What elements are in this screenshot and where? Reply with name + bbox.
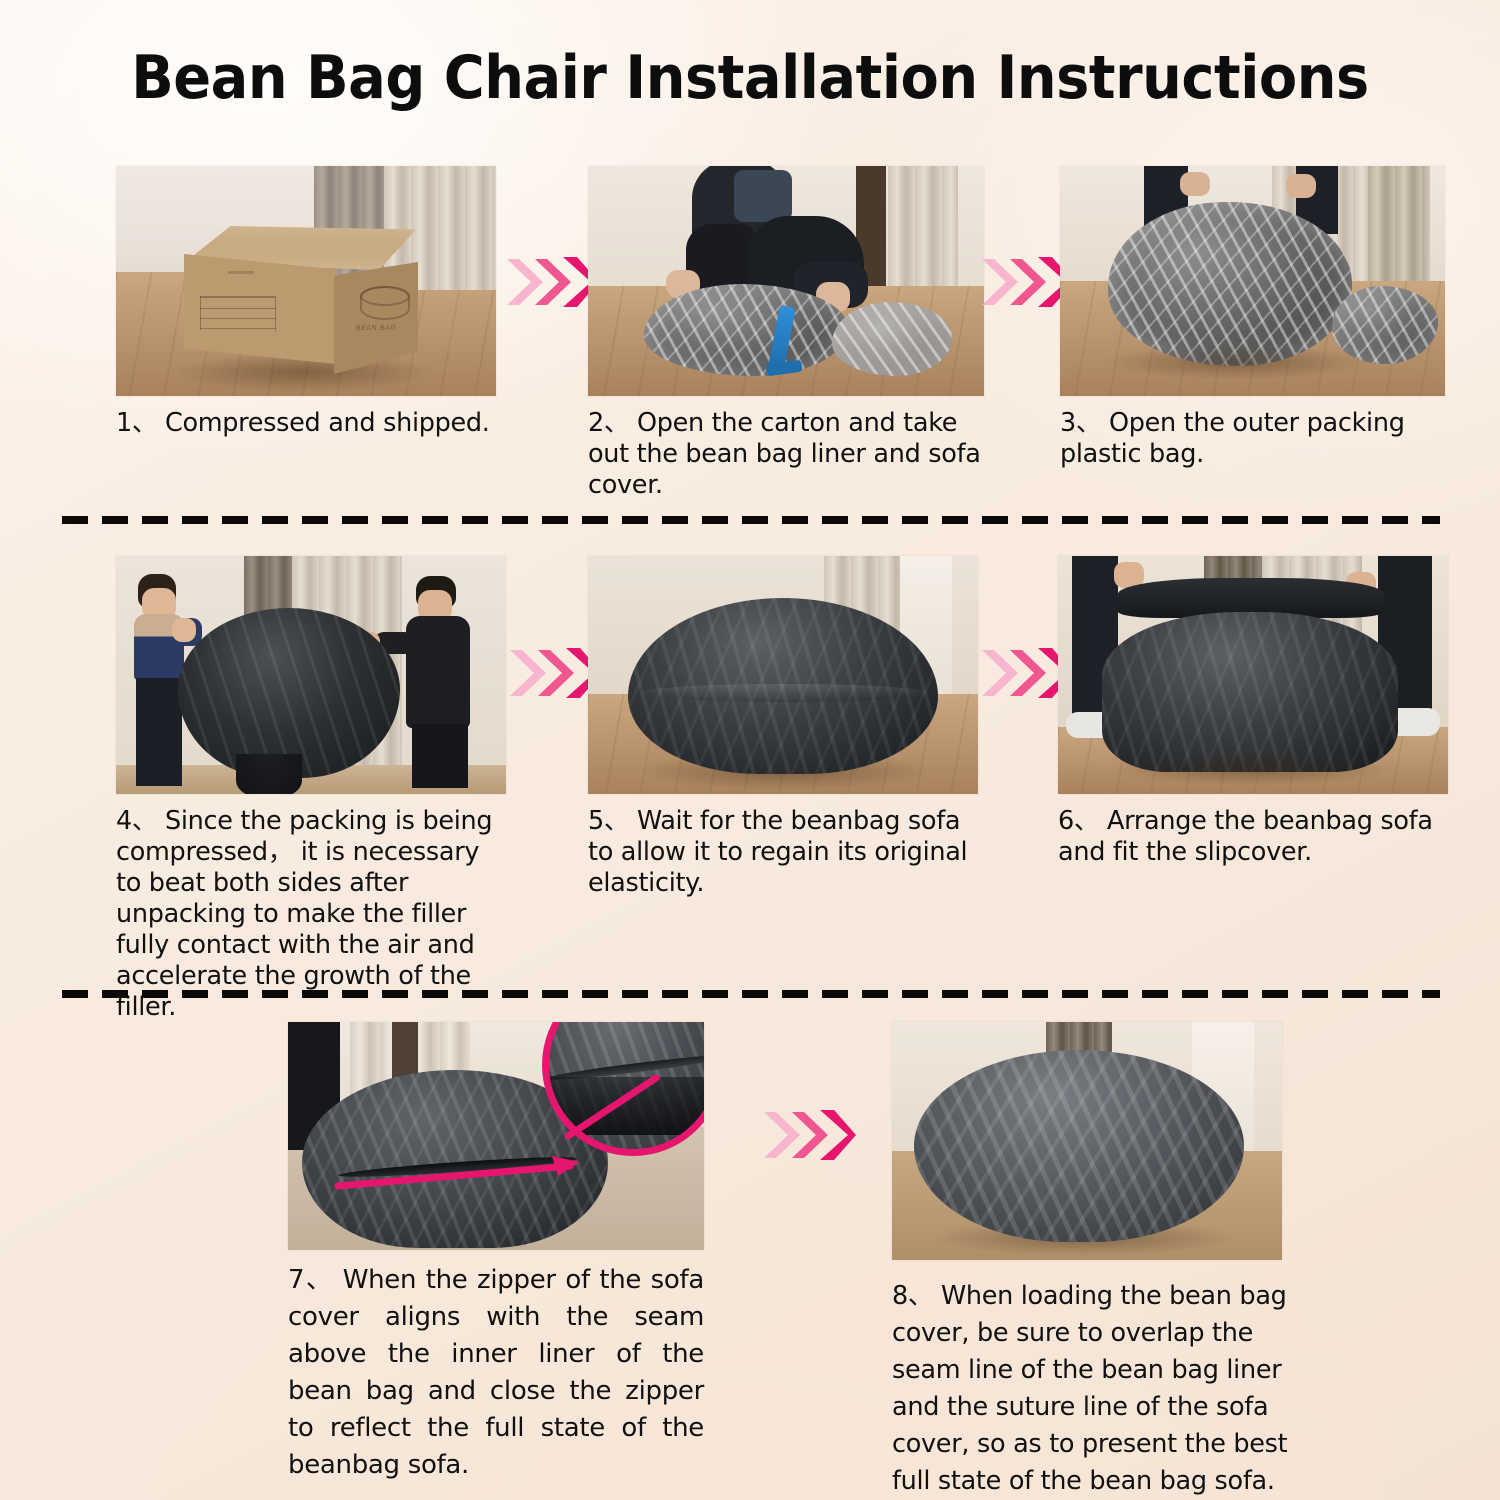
step-2-number: 2、 bbox=[588, 408, 629, 438]
step-4-number: 4、 bbox=[116, 806, 157, 836]
step-5-number: 5、 bbox=[588, 806, 629, 836]
step-7-text: When the zipper of the sofa cover aligns… bbox=[288, 1265, 704, 1480]
step-7-photo bbox=[288, 1022, 704, 1250]
step-5: 5、 Wait for the beanbag sofa to allow it… bbox=[588, 556, 978, 899]
step-5-text: Wait for the beanbag sofa to allow it to… bbox=[588, 806, 967, 898]
step-8-text: When loading the bean bag cover, be sure… bbox=[892, 1281, 1287, 1496]
step-3-photo bbox=[1060, 166, 1445, 396]
dashed-divider-1 bbox=[62, 516, 1440, 524]
step-8-number: 8、 bbox=[892, 1281, 933, 1311]
step-8: 8、 When loading the bean bag cover, be s… bbox=[892, 1022, 1308, 1500]
step-6-caption: 6、 Arrange the beanbag sofa and fit the … bbox=[1058, 806, 1448, 868]
step-4-caption: 4、 Since the packing is being compressed… bbox=[116, 806, 506, 1023]
step-7-caption: 7、 When the zipper of the sofa cover ali… bbox=[288, 1262, 704, 1484]
step-6: 6、 Arrange the beanbag sofa and fit the … bbox=[1058, 556, 1448, 868]
step-6-number: 6、 bbox=[1058, 806, 1099, 836]
arrow-step7-to-step8 bbox=[762, 1098, 858, 1172]
step-3-text: Open the outer packing plastic bag. bbox=[1060, 408, 1405, 469]
step-1-photo: BEAN BAG bbox=[116, 166, 496, 396]
step-7-number: 7、 bbox=[288, 1265, 333, 1295]
step-4-photo bbox=[116, 556, 506, 794]
step-4-text: Since the packing is being compressed， i… bbox=[116, 806, 492, 1022]
step-1-text: Compressed and shipped. bbox=[165, 408, 490, 438]
triple-chevron-right-icon bbox=[505, 245, 601, 319]
step-2-photo bbox=[588, 166, 984, 396]
step-4: 4、 Since the packing is being compressed… bbox=[116, 556, 506, 1023]
step-1-number: 1、 bbox=[116, 408, 157, 438]
step-2: 2、 Open the carton and take out the bean… bbox=[588, 166, 984, 501]
step-3: 3、 Open the outer packing plastic bag. bbox=[1060, 166, 1445, 470]
step-1-caption: 1、 Compressed and shipped. bbox=[116, 408, 496, 439]
step-3-number: 3、 bbox=[1060, 408, 1101, 438]
step-7: 7、 When the zipper of the sofa cover ali… bbox=[288, 1022, 704, 1484]
page-title: Bean Bag Chair Installation Instructions bbox=[53, 42, 1448, 114]
triple-chevron-right-icon bbox=[762, 1098, 858, 1172]
step-8-caption: 8、 When loading the bean bag cover, be s… bbox=[892, 1278, 1308, 1500]
arrow-step1-to-step2 bbox=[505, 245, 601, 319]
step-2-text: Open the carton and take out the bean ba… bbox=[588, 408, 981, 500]
callout-leader-line-icon bbox=[534, 1074, 664, 1154]
step-6-photo bbox=[1058, 556, 1448, 794]
step-5-photo bbox=[588, 556, 978, 794]
step-8-photo bbox=[892, 1022, 1282, 1260]
box-brand-label: BEAN BAG bbox=[356, 324, 396, 332]
step-1: BEAN BAG 1、 Compressed and shipped. bbox=[116, 166, 496, 439]
step-3-caption: 3、 Open the outer packing plastic bag. bbox=[1060, 408, 1445, 470]
step-2-caption: 2、 Open the carton and take out the bean… bbox=[588, 408, 984, 501]
infographic-page: Bean Bag Chair Installation Instructions bbox=[0, 0, 1500, 1500]
step-5-caption: 5、 Wait for the beanbag sofa to allow it… bbox=[588, 806, 978, 899]
step-6-text: Arrange the beanbag sofa and fit the sli… bbox=[1058, 806, 1433, 867]
